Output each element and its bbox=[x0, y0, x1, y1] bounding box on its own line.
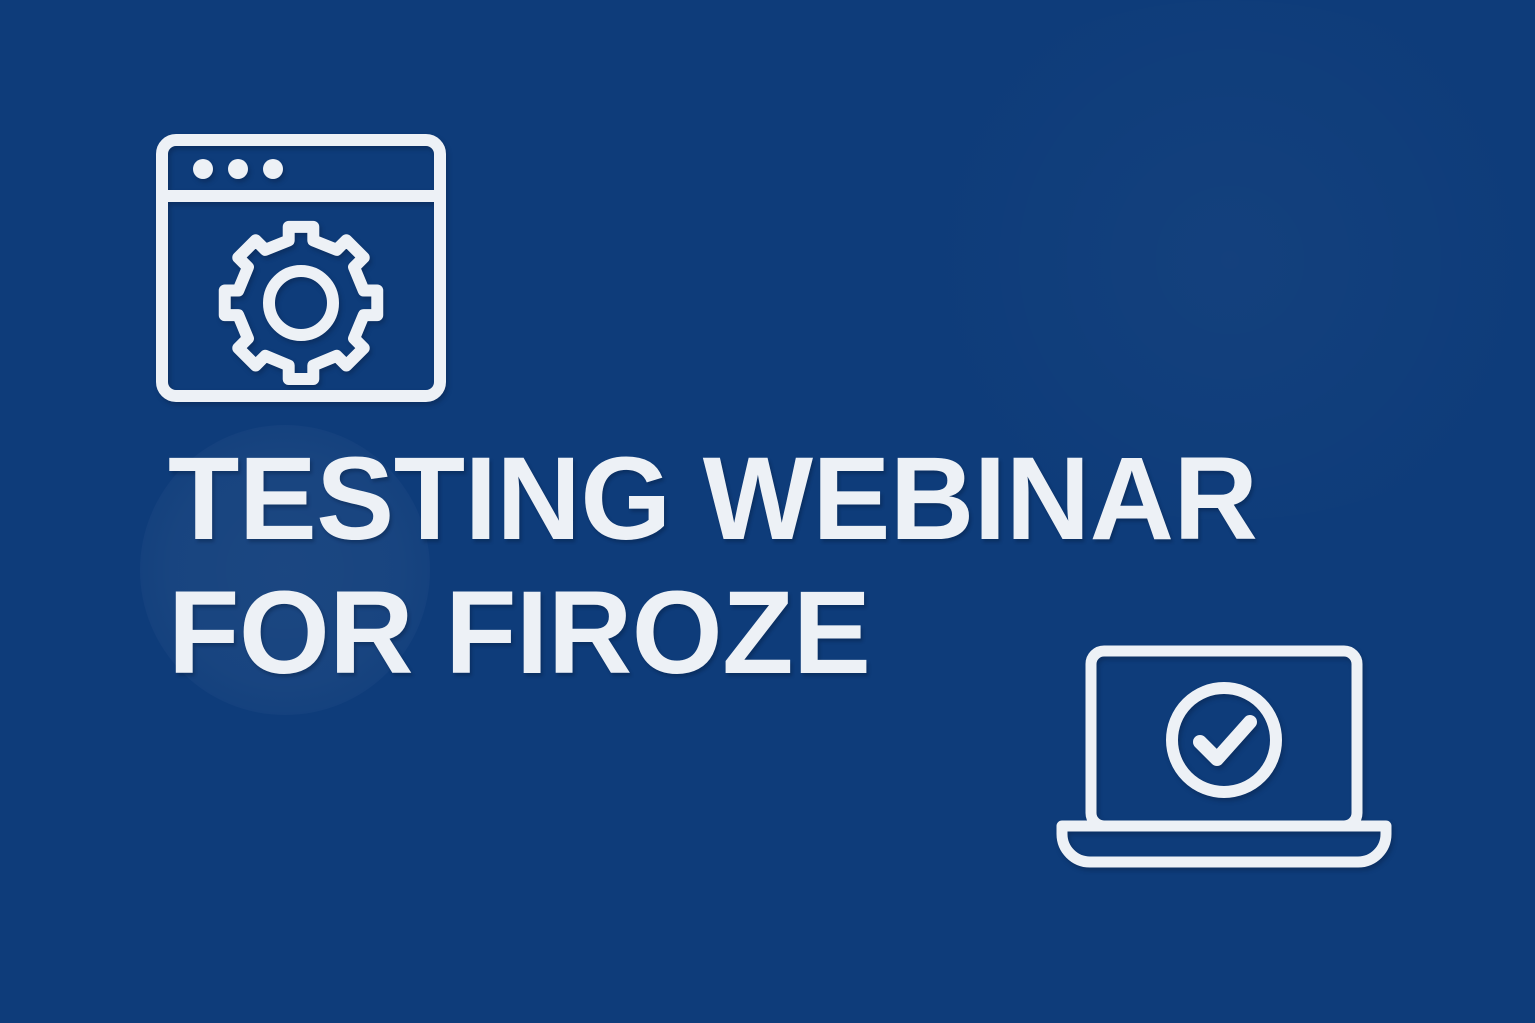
gear-icon bbox=[225, 227, 378, 379]
webinar-banner: TESTING WEBINAR FOR FIROZE bbox=[0, 0, 1535, 1023]
check-mark-icon bbox=[1200, 722, 1250, 759]
window-dot-2-icon bbox=[228, 159, 248, 179]
window-dot-1-icon bbox=[193, 159, 213, 179]
laptop-base-shape bbox=[1062, 826, 1386, 862]
headline-line-1: TESTING WEBINAR bbox=[168, 432, 1396, 566]
window-dot-3-icon bbox=[263, 159, 283, 179]
browser-window-gear-svg bbox=[150, 128, 450, 408]
gear-outline-shape bbox=[225, 227, 378, 379]
gear-center-hole bbox=[269, 271, 333, 335]
browser-window-gear-icon bbox=[150, 128, 450, 408]
laptop-check-icon bbox=[1050, 632, 1398, 876]
laptop-check-svg bbox=[1050, 632, 1398, 876]
laptop-screen-shape bbox=[1091, 651, 1357, 826]
check-circle-outline bbox=[1172, 688, 1276, 792]
